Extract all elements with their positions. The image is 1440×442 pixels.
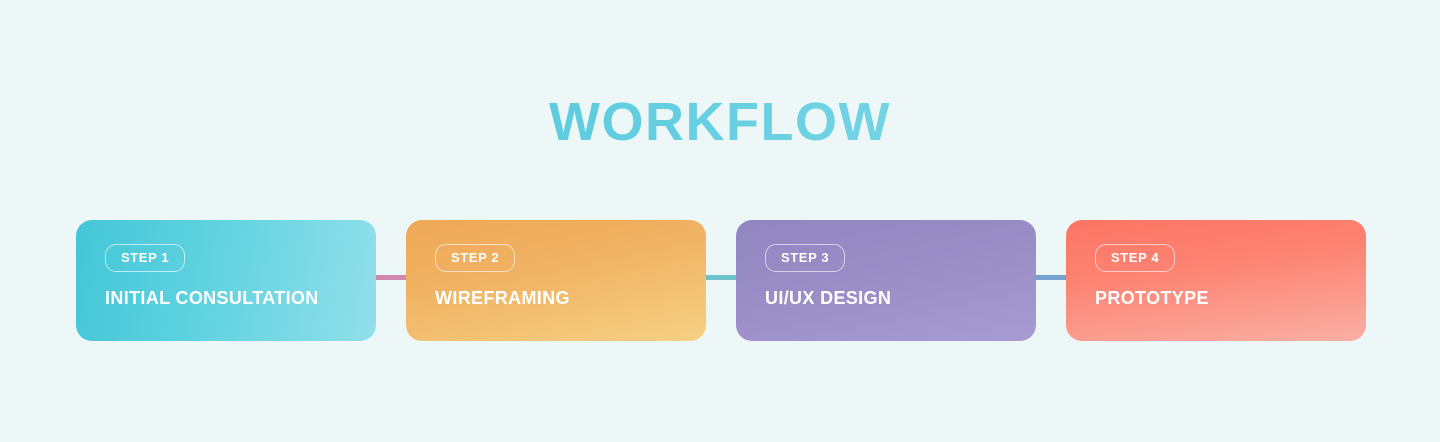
step-card-3[interactable]: STEP 3 UI/UX DESIGN [736, 220, 1036, 341]
workflow-diagram: WORKFLOW STEP 1 INITIAL CONSULTATION STE… [0, 0, 1440, 442]
step-badge-3: STEP 3 [765, 244, 845, 272]
connector-1-2 [372, 275, 408, 280]
step-badge-4: STEP 4 [1095, 244, 1175, 272]
step-title-3: UI/UX DESIGN [765, 287, 1036, 309]
step-title-2: WIREFRAMING [435, 287, 706, 309]
step-card-2[interactable]: STEP 2 WIREFRAMING [406, 220, 706, 341]
connector-3-4 [1032, 275, 1068, 280]
step-badge-2: STEP 2 [435, 244, 515, 272]
connector-2-3 [702, 275, 738, 280]
step-title-1: INITIAL CONSULTATION [105, 287, 376, 309]
step-title-4: PROTOTYPE [1095, 287, 1366, 309]
step-card-1[interactable]: STEP 1 INITIAL CONSULTATION [76, 220, 376, 341]
steps-row: STEP 1 INITIAL CONSULTATION STEP 2 WIREF… [76, 220, 1365, 341]
step-card-4[interactable]: STEP 4 PROTOTYPE [1066, 220, 1366, 341]
page-title: WORKFLOW [0, 90, 1440, 154]
step-badge-1: STEP 1 [105, 244, 185, 272]
